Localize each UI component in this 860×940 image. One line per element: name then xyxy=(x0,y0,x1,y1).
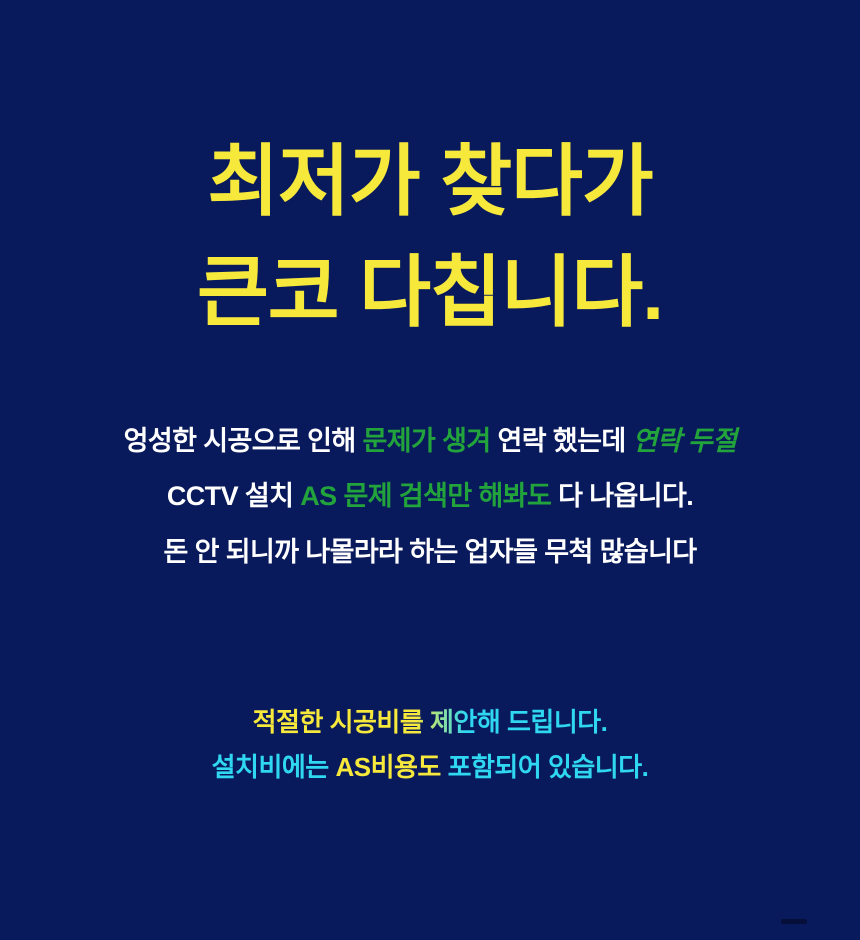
body-line-1-highlight-2: 연락 두절 xyxy=(633,426,737,456)
body-line-1-segment-1: 엉성한 시공으로 인해 xyxy=(124,426,363,456)
body-line-3: 돈 안 되니까 나몰라라 하는 업자들 무척 많습니다 xyxy=(0,525,860,580)
body-line-1-highlight-1: 문제가 생겨 xyxy=(362,426,490,456)
closing-line-2-segment-1: 설치비에는 xyxy=(212,752,336,782)
closing-block: 적절한 시공비를 제안해 드립니다. 설치비에는 AS비용도 포함되어 있습니다… xyxy=(0,700,860,789)
body-line-2-segment-1: CCTV 설치 xyxy=(167,481,300,511)
closing-line-2-segment-2: 포함되어 있습니다. xyxy=(441,752,649,782)
headline-line-2: 큰코 다칩니다. xyxy=(0,237,860,348)
body-line-2-segment-2: 다 나옵니다. xyxy=(551,481,693,511)
promo-banner: 최저가 찾다가 큰코 다칩니다. 엉성한 시공으로 인해 문제가 생겨 연락 했… xyxy=(0,0,860,940)
body-block: 엉성한 시공으로 인해 문제가 생겨 연락 했는데 연락 두절 CCTV 설치 … xyxy=(0,414,860,580)
headline-block: 최저가 찾다가 큰코 다칩니다. xyxy=(0,126,860,348)
body-line-3-segment-1: 돈 안 되니까 나몰라라 하는 업자들 무척 많습니다 xyxy=(163,537,696,567)
body-line-1: 엉성한 시공으로 인해 문제가 생겨 연락 했는데 연락 두절 xyxy=(0,414,860,469)
body-line-2-highlight-1: AS 문제 검색만 해봐도 xyxy=(300,481,551,511)
body-line-1-segment-2: 연락 했는데 xyxy=(491,426,633,456)
closing-line-1: 적절한 시공비를 제안해 드립니다. xyxy=(253,700,608,745)
closing-line-2-highlight: AS비용도 xyxy=(335,752,440,782)
body-line-2: CCTV 설치 AS 문제 검색만 해봐도 다 나옵니다. xyxy=(0,469,860,524)
closing-line-2: 설치비에는 AS비용도 포함되어 있습니다. xyxy=(0,745,860,790)
corner-watermark-mark xyxy=(781,919,807,924)
headline-line-1: 최저가 찾다가 xyxy=(0,126,860,237)
